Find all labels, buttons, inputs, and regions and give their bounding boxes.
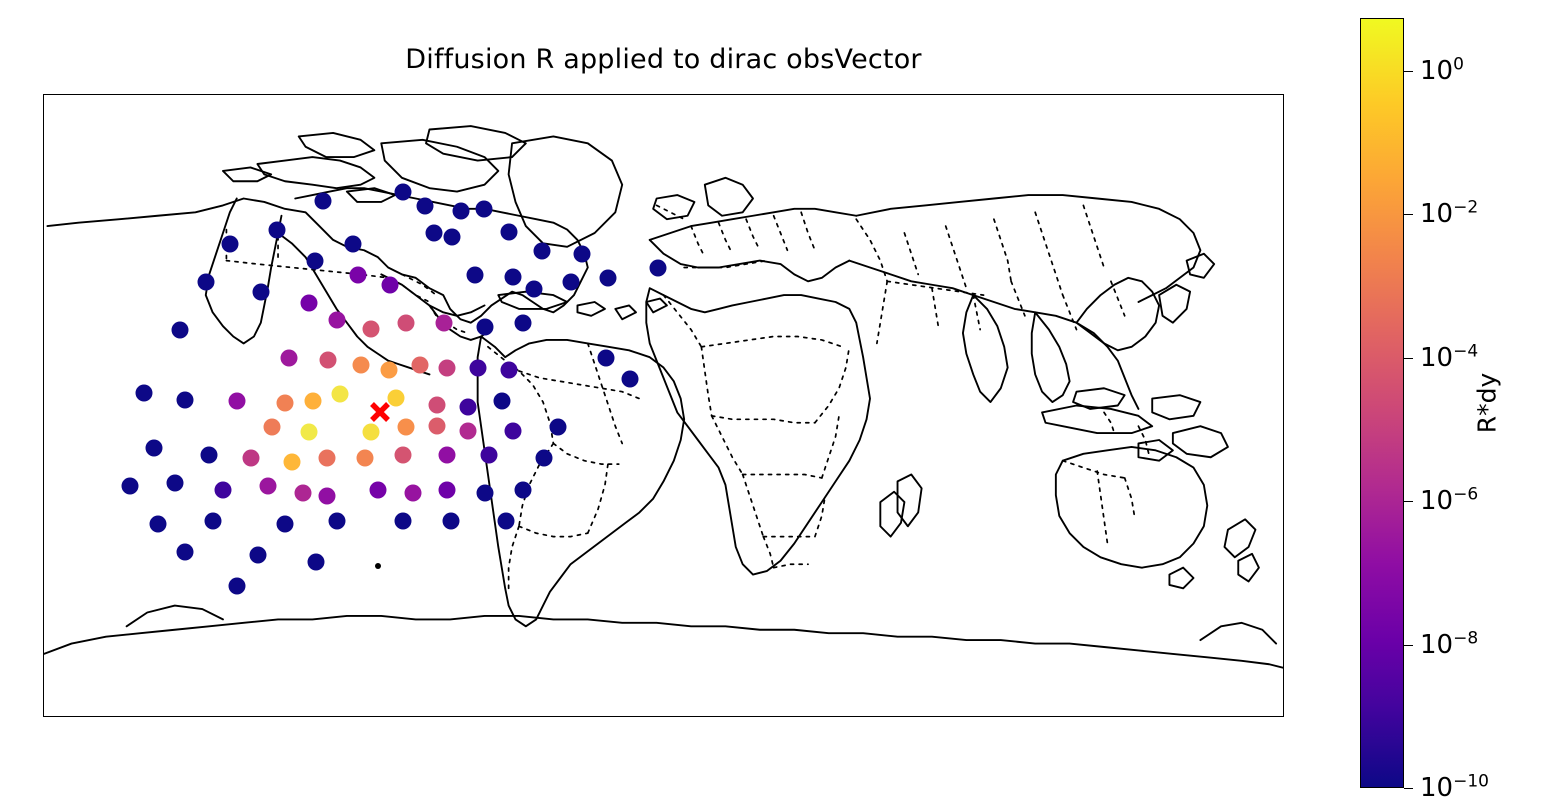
scatter-point [394, 446, 411, 463]
scatter-point [501, 223, 518, 240]
colorbar-tick-label: 10−6 [1420, 488, 1478, 514]
scatter-point [329, 311, 346, 328]
scatter-point [318, 488, 335, 505]
scatter-point [320, 351, 337, 368]
scatter-point [294, 485, 311, 502]
colorbar-tick [1404, 501, 1413, 502]
scatter-point [198, 273, 215, 290]
colorbar-tick-label: 10−10 [1420, 775, 1489, 801]
scatter-point [525, 280, 542, 297]
scatter-point [501, 362, 518, 379]
scatter-point [460, 422, 477, 439]
scatter-point [375, 563, 381, 569]
scatter-point [329, 512, 346, 529]
scatter-point [475, 201, 492, 218]
scatter-point [177, 391, 194, 408]
scatter-point [470, 360, 487, 377]
scatter-point [622, 370, 639, 387]
scatter-point [494, 393, 511, 410]
scatter-point [306, 253, 323, 270]
scatter-point [453, 202, 470, 219]
scatter-point [442, 512, 459, 529]
colorbar-tick [1404, 358, 1413, 359]
scatter-point [563, 273, 580, 290]
scatter-point [344, 235, 361, 252]
scatter-point [166, 474, 183, 491]
scatter-point [515, 315, 532, 332]
scatter-point [172, 322, 189, 339]
scatter-point [435, 315, 452, 332]
colorbar-tick-label: 10−4 [1420, 345, 1478, 371]
scatter-point [222, 235, 239, 252]
scatter-point [349, 266, 366, 283]
colorbar-tick [1404, 214, 1413, 215]
colorbar-tick [1404, 71, 1413, 72]
scatter-point [201, 446, 218, 463]
scatter-point [308, 554, 325, 571]
scatter-point [277, 516, 294, 533]
scatter-point [460, 398, 477, 415]
scatter-point [416, 197, 433, 214]
scatter-point [284, 453, 301, 470]
scatter-point [477, 485, 494, 502]
scatter-point [149, 516, 166, 533]
scatter-point [229, 578, 246, 595]
scatter-point [504, 422, 521, 439]
scatter-point [549, 419, 566, 436]
colorbar-tick-label: 10−2 [1420, 201, 1478, 227]
scatter-point [304, 393, 321, 410]
colorbar-tick-label: 10−8 [1420, 632, 1478, 658]
scatter-point [332, 386, 349, 403]
scatter-point [397, 315, 414, 332]
dirac-center-marker [365, 397, 395, 427]
scatter-point [411, 356, 428, 373]
scatter-point [480, 446, 497, 463]
scatter-point [515, 481, 532, 498]
scatter-point [439, 481, 456, 498]
scatter-point [363, 320, 380, 337]
scatter-point [277, 395, 294, 412]
scatter-point [301, 424, 318, 441]
scatter-point [268, 221, 285, 238]
scatter-point [428, 417, 445, 434]
scatter-point [439, 446, 456, 463]
colorbar-tick [1404, 788, 1413, 789]
scatter-point [599, 270, 616, 287]
scatter-point [439, 360, 456, 377]
scatter-point [242, 450, 259, 467]
scatter-point [444, 228, 461, 245]
scatter-point [356, 450, 373, 467]
matplotlib-figure: Diffusion R applied to dirac obsVector [0, 0, 1544, 808]
scatter-point [466, 266, 483, 283]
scatter-point [425, 225, 442, 242]
colorbar [1360, 18, 1404, 788]
page-title: Diffusion R applied to dirac obsVector [43, 44, 1284, 75]
scatter-point [597, 350, 614, 367]
scatter-point [394, 512, 411, 529]
colorbar-tick [1404, 645, 1413, 646]
scatter-point [382, 277, 399, 294]
scatter-point [204, 512, 221, 529]
scatter-point [428, 396, 445, 413]
scatter-point [397, 419, 414, 436]
scatter-point [215, 481, 232, 498]
scatter-point [404, 485, 421, 502]
scatter-point [535, 450, 552, 467]
scatter-point [318, 450, 335, 467]
scatter-point [380, 362, 397, 379]
scatter-point [477, 318, 494, 335]
scatter-point [353, 356, 370, 373]
scatter-point [135, 384, 152, 401]
map-axes [43, 94, 1284, 717]
scatter-point [573, 246, 590, 263]
scatter-point [177, 543, 194, 560]
scatter-point [301, 294, 318, 311]
scatter-point [504, 268, 521, 285]
scatter-point [370, 481, 387, 498]
scatter-point [253, 284, 270, 301]
scatter-point [280, 350, 297, 367]
scatter-point [229, 393, 246, 410]
colorbar-tick-label: 100 [1420, 58, 1464, 84]
scatter-point [497, 512, 514, 529]
scatter-point [534, 242, 551, 259]
scatter-point [249, 547, 266, 564]
scatter-point [260, 478, 277, 495]
colorbar-label: R*dy [1473, 373, 1502, 434]
scatter-point [315, 192, 332, 209]
scatter-point [263, 419, 280, 436]
scatter-point [394, 183, 411, 200]
scatter-point [146, 440, 163, 457]
scatter-point [649, 260, 666, 277]
scatter-point [122, 478, 139, 495]
